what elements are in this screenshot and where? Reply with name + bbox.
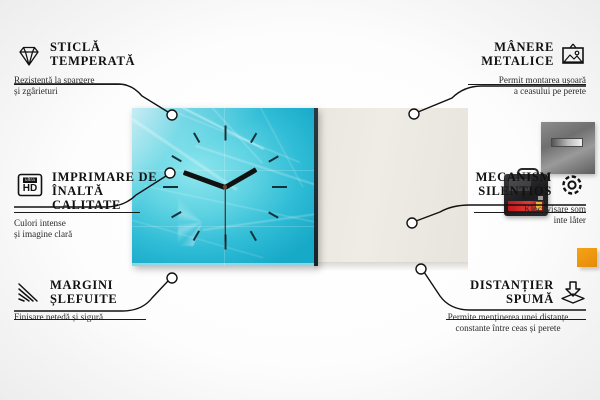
feature-metal-hangers[interactable]: MÂNERE METALICE Permit montarea ușoară a… — [436, 40, 586, 97]
feature-title-line1: IMPRIMARE DE — [52, 170, 174, 184]
feature-title-line2: TEMPERATĂ — [50, 54, 164, 68]
divider — [14, 212, 140, 213]
divider — [446, 319, 586, 320]
feature-title-line1: STICLĂ — [50, 40, 164, 54]
diamond-icon — [16, 44, 42, 68]
feature-sub-line2: inte låter — [452, 215, 586, 226]
feature-title-line1: MECANISM — [452, 170, 552, 184]
feature-sub-line1: Culori intense — [14, 218, 174, 229]
feature-title-line2: SPUMĂ — [430, 292, 554, 306]
feature-sub-line1: Finisare netedă și sigură — [14, 312, 174, 323]
divider — [474, 212, 586, 213]
feature-title-line1: MARGINI — [50, 278, 174, 292]
feature-sub-line1: Klockvisare som — [452, 204, 586, 215]
divider — [468, 84, 586, 85]
feature-hd-print[interactable]: ultra HD IMPRIMARE DE ÎNALTĂ CALITATE Cu… — [14, 170, 174, 240]
feature-title-line1: DISTANȚIER — [430, 278, 554, 292]
feature-silent-mechanism[interactable]: MECANISM SILENȚIOS Klockvisare som inte … — [452, 170, 586, 226]
feature-sub-line2: și imagine clară — [14, 229, 174, 240]
feature-tempered-glass[interactable]: STICLĂ TEMPERATĂ Rezistentă la spargere … — [14, 40, 164, 97]
feature-foam-spacer[interactable]: DISTANȚIER SPUMĂ Permite menținerea unei… — [430, 278, 586, 334]
press-down-icon — [560, 280, 586, 304]
feature-title-line2: SILENȚIOS — [452, 184, 552, 198]
feature-title-line1: MÂNERE — [436, 40, 554, 54]
feature-sub-line2: constante între ceas și perete — [430, 323, 586, 334]
infographic-canvas: STICLĂ TEMPERATĂ Rezistentă la spargere … — [0, 0, 600, 400]
ultra-hd-icon-top-text: ultra — [23, 177, 37, 182]
feature-title-line2: ȘLEFUITE — [50, 292, 174, 306]
ultra-hd-icon-main-text: HD — [21, 183, 39, 194]
feature-sub-line2: și zgârieturi — [14, 86, 164, 97]
feature-sub-line1: Permite menținerea unei distanțe — [430, 312, 586, 323]
gear-icon — [558, 172, 586, 198]
divider — [14, 319, 146, 320]
feature-sub-line2: a ceasului pe perete — [436, 86, 586, 97]
divider — [14, 84, 126, 85]
ultra-hd-icon: ultra HD — [16, 172, 44, 198]
feature-title-line2: ÎNALTĂ CALITATE — [52, 184, 174, 212]
feature-polished-edges[interactable]: MARGINI ȘLEFUITE Finisare netedă și sigu… — [14, 278, 174, 323]
polished-edge-icon — [16, 281, 42, 305]
feature-title-line2: METALICE — [436, 54, 554, 68]
hanging-frame-icon — [560, 42, 586, 66]
